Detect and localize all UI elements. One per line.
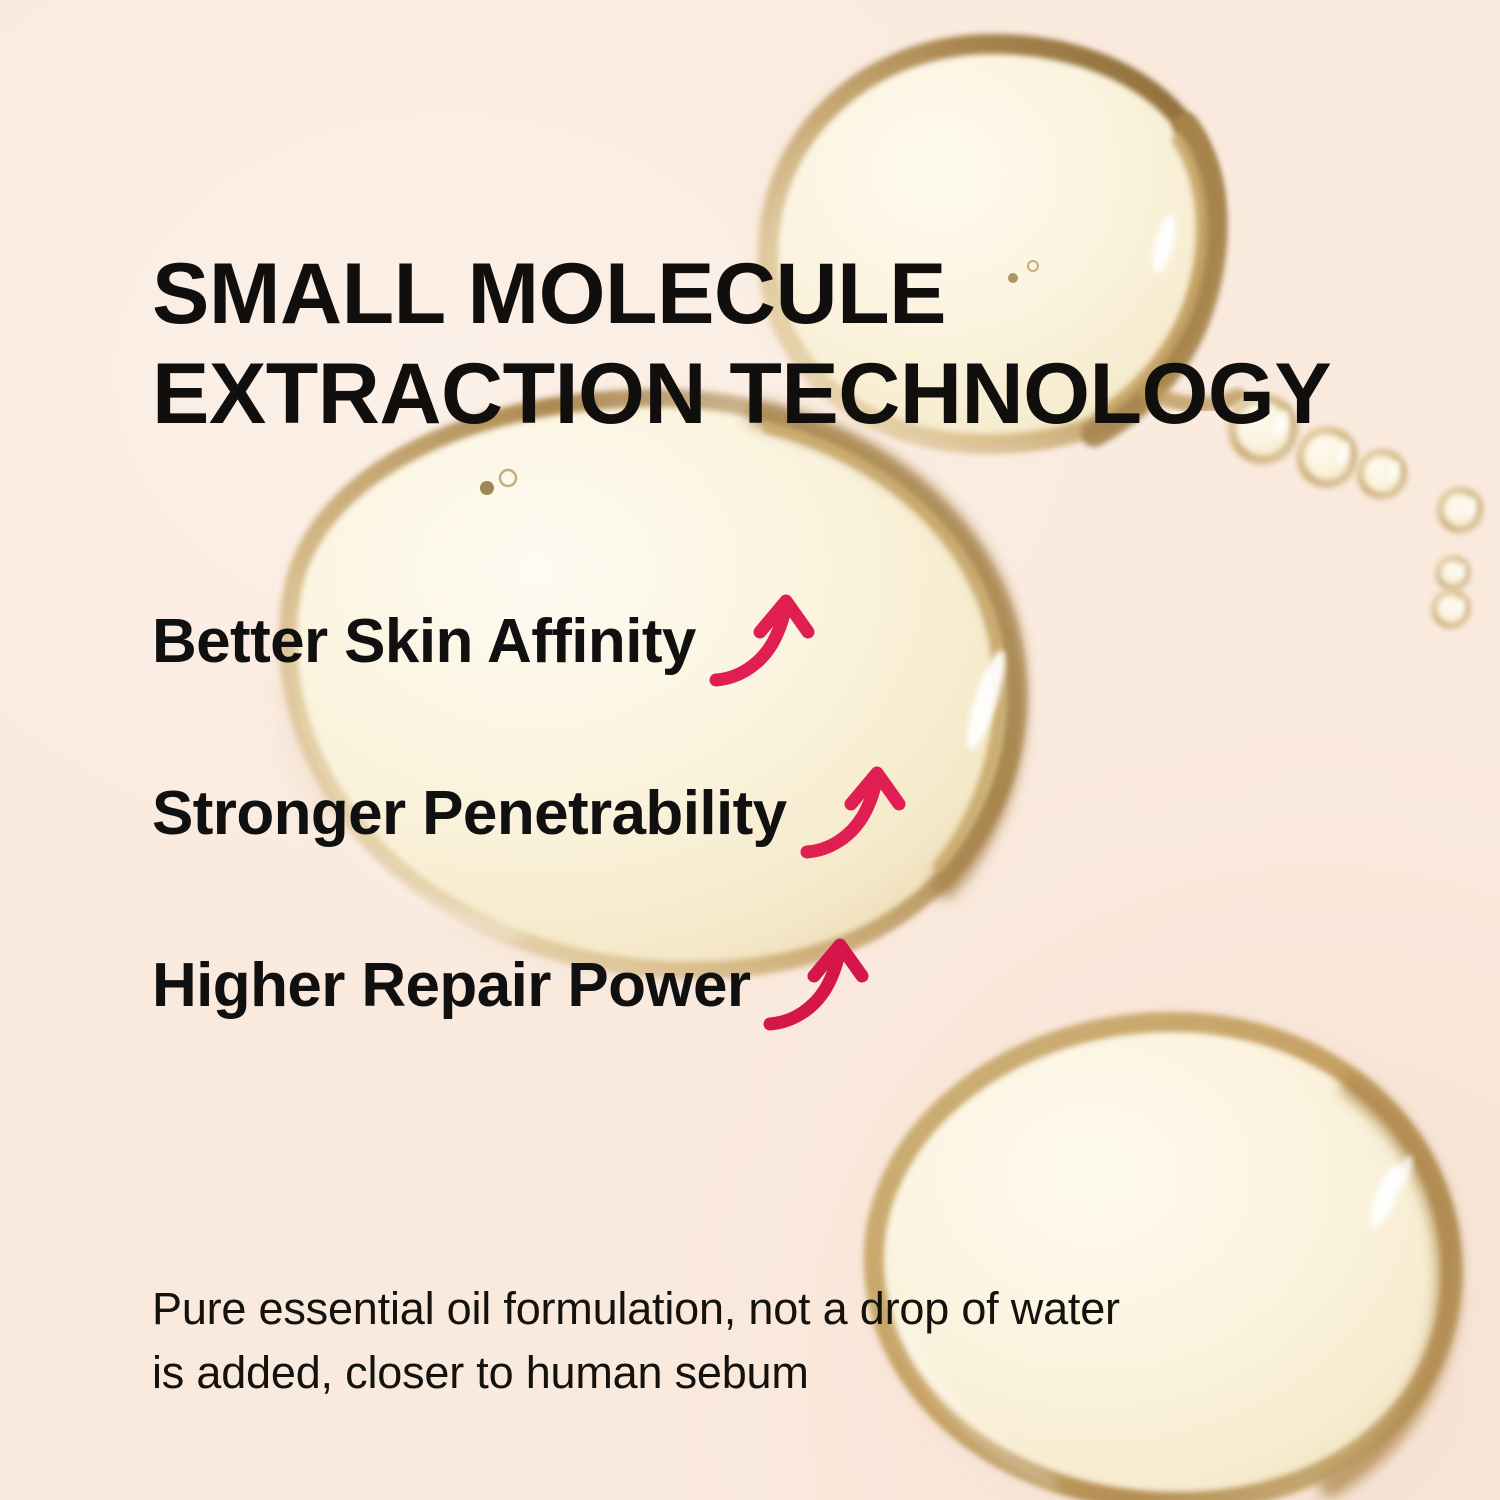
feature-item-stronger-penetrability: Stronger Penetrability: [152, 772, 917, 856]
feature-label: Better Skin Affinity: [152, 611, 696, 673]
feature-item-better-skin-affinity: Better Skin Affinity: [152, 600, 826, 684]
feature-item-higher-repair-power: Higher Repair Power: [152, 944, 880, 1028]
feature-label: Higher Repair Power: [152, 955, 750, 1017]
headline-line-2: EXTRACTION TECHNOLOGY: [152, 344, 1382, 445]
curved-up-arrow-icon: [787, 760, 917, 868]
caption-line-1: Pure essential oil formulation, not a dr…: [152, 1277, 1367, 1341]
feature-label: Stronger Penetrability: [152, 783, 787, 845]
headline-line-1: SMALL MOLECULE: [152, 244, 1382, 345]
curved-up-arrow-icon: [750, 932, 880, 1040]
product-caption: Pure essential oil formulation, not a dr…: [152, 1277, 1367, 1405]
page-title: SMALL MOLECULE EXTRACTION TECHNOLOGY: [152, 244, 1382, 445]
text-content-layer: SMALL MOLECULE EXTRACTION TECHNOLOGY Bet…: [0, 0, 1500, 1500]
curved-up-arrow-icon: [696, 588, 826, 696]
product-feature-poster: SMALL MOLECULE EXTRACTION TECHNOLOGY Bet…: [0, 0, 1500, 1500]
caption-line-2: is added, closer to human sebum: [152, 1341, 1367, 1405]
